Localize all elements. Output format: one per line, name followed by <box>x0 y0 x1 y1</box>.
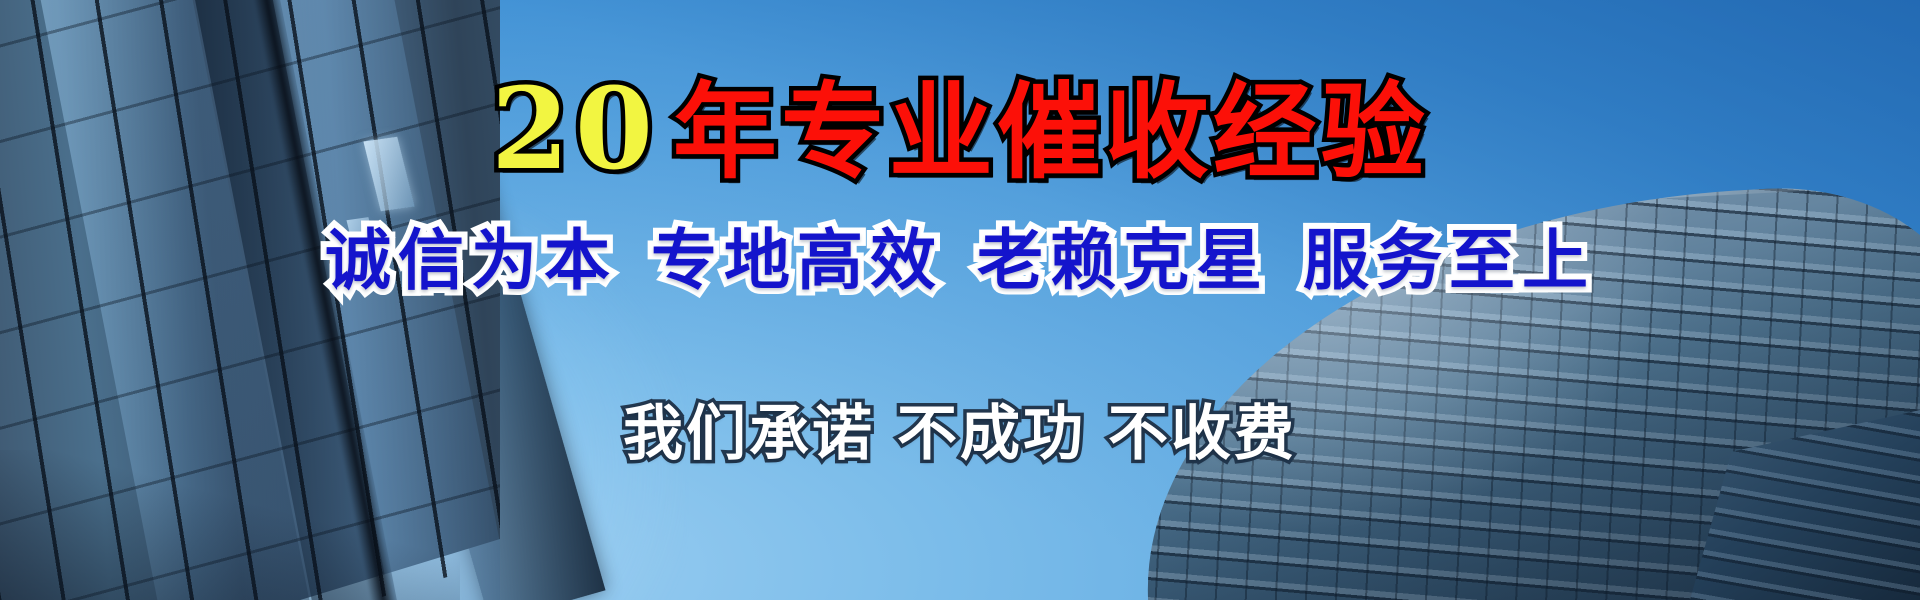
slogan-line: 诚信为本专地高效老赖克星服务至上 <box>0 228 1920 294</box>
headline-main-text: 年专业催收经验 <box>673 80 1429 184</box>
slogan-segment-4: 服务至上 <box>1303 228 1595 294</box>
promise-segment-2: 不成功 <box>897 404 1086 464</box>
slogan-segment-2: 专地高效 <box>651 228 943 294</box>
slogan-segment-1: 诚信为本 <box>325 228 617 294</box>
slogan-segment-3: 老赖克星 <box>977 228 1269 294</box>
promise-line: 我们承诺不成功不收费 <box>0 404 1920 464</box>
promise-segment-1: 我们承诺 <box>623 404 875 464</box>
banner-text-stack: 20年专业催收经验 诚信为本专地高效老赖克星服务至上 我们承诺不成功不收费 <box>0 0 1920 600</box>
headline-years-number: 20 <box>491 74 659 186</box>
promise-segment-3: 不收费 <box>1108 404 1297 464</box>
headline: 20年专业催收经验 <box>0 74 1920 186</box>
promotional-banner: 20年专业催收经验 诚信为本专地高效老赖克星服务至上 我们承诺不成功不收费 <box>0 0 1920 600</box>
